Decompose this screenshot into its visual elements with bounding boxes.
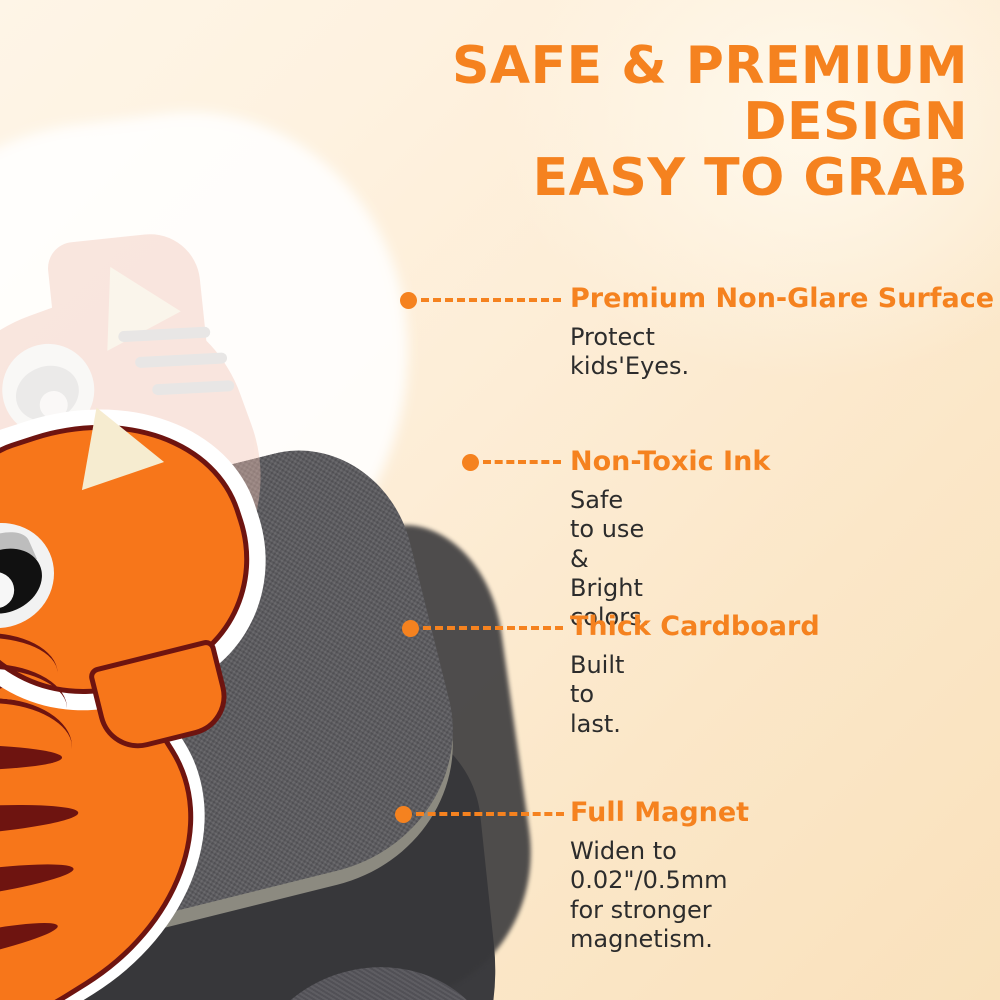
page-title: SAFE & PREMIUM DESIGN EASY TO GRAB — [248, 38, 968, 206]
callout-dashed-line — [483, 460, 561, 464]
tiger-ear-inner — [82, 407, 171, 503]
callout-connector — [400, 291, 561, 309]
product-feature-infographic: SAFE & PREMIUM DESIGN EASY TO GRAB Premi… — [0, 0, 1000, 1000]
feature-title: Thick Cardboard — [570, 611, 820, 642]
callout-dot-icon — [462, 454, 479, 471]
feature-description: Built to last. — [570, 651, 624, 739]
feature-title: Non-Toxic Ink — [570, 446, 770, 477]
callout-connector — [395, 805, 564, 823]
feature-title: Full Magnet — [570, 797, 749, 828]
headline-line-2: EASY TO GRAB — [248, 150, 968, 206]
callout-connector — [462, 453, 561, 471]
callout-dot-icon — [395, 806, 412, 823]
callout-dashed-line — [421, 298, 561, 302]
callout-dot-icon — [402, 620, 419, 637]
feature-title: Premium Non-Glare Surface — [570, 283, 994, 314]
callout-connector — [402, 619, 563, 637]
callout-dashed-line — [423, 626, 563, 630]
product-image-group — [0, 120, 600, 1000]
callout-dot-icon — [400, 292, 417, 309]
headline-line-1: SAFE & PREMIUM DESIGN — [452, 36, 968, 152]
feature-description: Protect kids'Eyes. — [570, 323, 689, 382]
feature-description: Widen to 0.02"/0.5mm for stronger magnet… — [570, 837, 727, 954]
callout-dashed-line — [416, 812, 564, 816]
